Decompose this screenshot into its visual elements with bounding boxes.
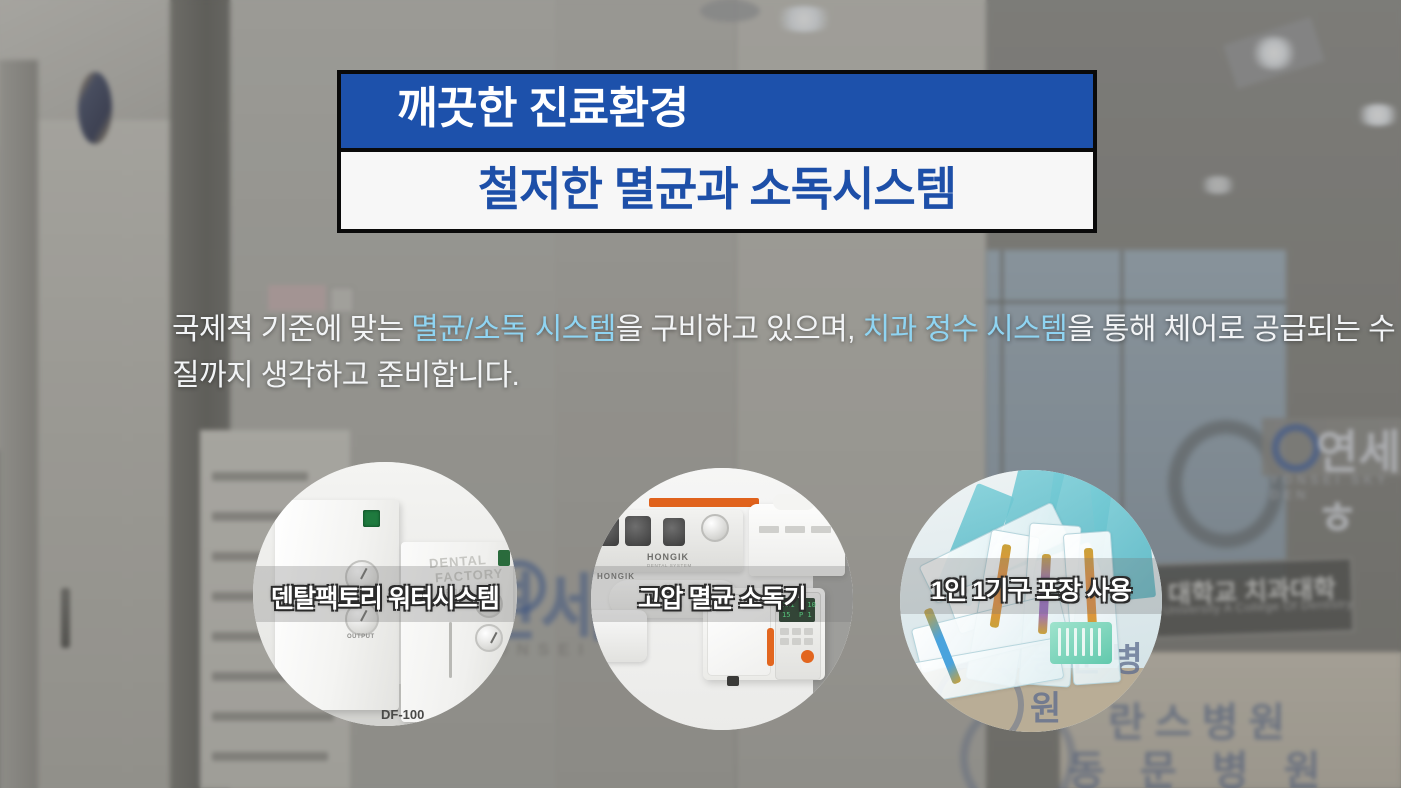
banner-top-blue: 깨끗한 진료환경 <box>341 74 1093 152</box>
photo-card-packaged-instruments[interactable]: 동 문 병 원 <box>900 470 1162 732</box>
autoclave-door-lever <box>767 628 774 666</box>
tray-slot <box>1074 628 1077 656</box>
tray-slot <box>1090 628 1093 656</box>
hongik-brand-label: HONGIK <box>647 552 689 562</box>
tray-slot <box>1066 628 1069 656</box>
autoclave-foot <box>727 676 739 686</box>
compressor-pump-head <box>593 516 619 546</box>
unit-b-gauge-output <box>475 624 503 652</box>
card-caption-water-system-overflow: 덴탈팩토리 워터시스템 <box>253 579 517 615</box>
panel-button[interactable] <box>780 638 789 645</box>
compressor-pump-head <box>663 518 685 546</box>
banner-bottom-white: 철저한 멸균과 소독시스템 <box>341 152 1093 229</box>
sterilizer-vent-slot <box>811 526 831 533</box>
panel-button[interactable] <box>804 628 813 635</box>
gauge-label-output: OUTPUT <box>347 634 375 640</box>
photo-card-autoclave[interactable]: HONGIK DENTAL SYSTEM HONGIK 121 2.10 15 … <box>591 468 853 730</box>
lede-segment-1: 국제적 기준에 맞는 <box>172 313 411 346</box>
panel-button[interactable] <box>792 628 801 635</box>
description-paragraph: 국제적 기준에 맞는 멸균/소독 시스템을 구비하고 있으며, 치과 정수 시스… <box>172 307 1401 398</box>
panel-button[interactable] <box>804 638 813 645</box>
compressor-orange-stripe <box>649 498 759 507</box>
instrument-tray-green <box>1050 622 1112 664</box>
sterilizer-vent-slot <box>785 526 805 533</box>
banner-headline-1: 깨끗한 진료환경 <box>397 85 1093 133</box>
lede-highlight-2: 치과 정수 시스템 <box>863 313 1067 346</box>
compressor-pressure-gauge <box>701 514 729 542</box>
power-indicator-led <box>363 510 380 527</box>
card-caption-packaged-instruments: 1인 1기구 포장 사용 <box>900 571 1162 607</box>
slide-root: 연세 YONSEI SK 연세ㅎ YONSEI SKY DEN 대학교 치과대학… <box>0 0 1401 788</box>
card-caption-autoclave: 고압 멸균 소독기 <box>591 579 853 615</box>
lede-highlight-1: 멸균/소독 시스템 <box>411 313 615 346</box>
tray-slot <box>1098 628 1101 656</box>
unit-b-door-seam <box>449 622 452 678</box>
model-number-label: DF-100 <box>381 707 424 722</box>
panel-button[interactable] <box>792 638 801 645</box>
compressor-pump-head <box>625 516 651 546</box>
panel-button[interactable] <box>780 628 789 635</box>
lede-segment-2: 을 구비하고 있으며, <box>616 313 863 346</box>
tray-slot <box>1058 628 1061 656</box>
sterilizer-top-cap <box>773 494 815 510</box>
unit-b-indicator-led <box>498 550 510 566</box>
title-banner: 깨끗한 진료환경 철저한 멸균과 소독시스템 <box>337 70 1097 233</box>
tray-slot <box>1082 628 1085 656</box>
banner-headline-2: 철저한 멸균과 소독시스템 <box>341 164 1093 215</box>
panel-start-button[interactable] <box>801 650 814 663</box>
sterilizer-vent-slot <box>759 526 779 533</box>
